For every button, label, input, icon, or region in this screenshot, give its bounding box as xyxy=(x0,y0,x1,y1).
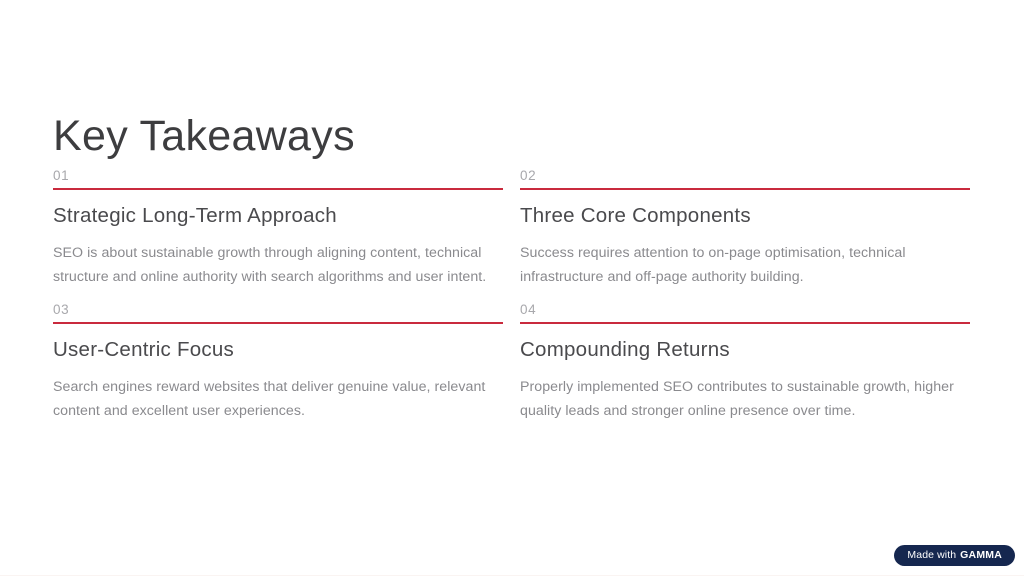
item-body-01: SEO is about sustainable growth through … xyxy=(53,241,495,290)
takeaway-item-04: 04 Compounding Returns Properly implemen… xyxy=(520,302,970,423)
item-divider-04 xyxy=(520,322,970,324)
takeaway-item-03: 03 User-Centric Focus Search engines rew… xyxy=(53,302,503,423)
item-divider-03 xyxy=(53,322,503,324)
item-number-02: 02 xyxy=(520,168,970,188)
slide-canvas: Key Takeaways 01 Strategic Long-Term App… xyxy=(0,0,1024,576)
item-number-04: 04 xyxy=(520,302,970,322)
item-heading-01: Strategic Long-Term Approach xyxy=(53,203,503,230)
page-title: Key Takeaways xyxy=(53,113,355,160)
item-number-01: 01 xyxy=(53,168,503,188)
item-heading-03: User-Centric Focus xyxy=(53,337,503,364)
item-body-02: Success requires attention to on-page op… xyxy=(520,241,962,290)
made-with-gamma-badge[interactable]: Made with GAMMA xyxy=(894,545,1015,566)
item-divider-02 xyxy=(520,188,970,190)
badge-prefix-label: Made with xyxy=(907,550,956,561)
takeaway-item-01: 01 Strategic Long-Term Approach SEO is a… xyxy=(53,168,503,289)
gamma-wordmark: GAMMA xyxy=(960,550,1002,561)
takeaways-grid: 01 Strategic Long-Term Approach SEO is a… xyxy=(53,168,970,424)
takeaway-item-02: 02 Three Core Components Success require… xyxy=(520,168,970,289)
item-heading-02: Three Core Components xyxy=(520,203,970,230)
item-divider-01 xyxy=(53,188,503,190)
item-body-04: Properly implemented SEO contributes to … xyxy=(520,375,962,424)
item-number-03: 03 xyxy=(53,302,503,322)
item-body-03: Search engines reward websites that deli… xyxy=(53,375,495,424)
item-heading-04: Compounding Returns xyxy=(520,337,970,364)
